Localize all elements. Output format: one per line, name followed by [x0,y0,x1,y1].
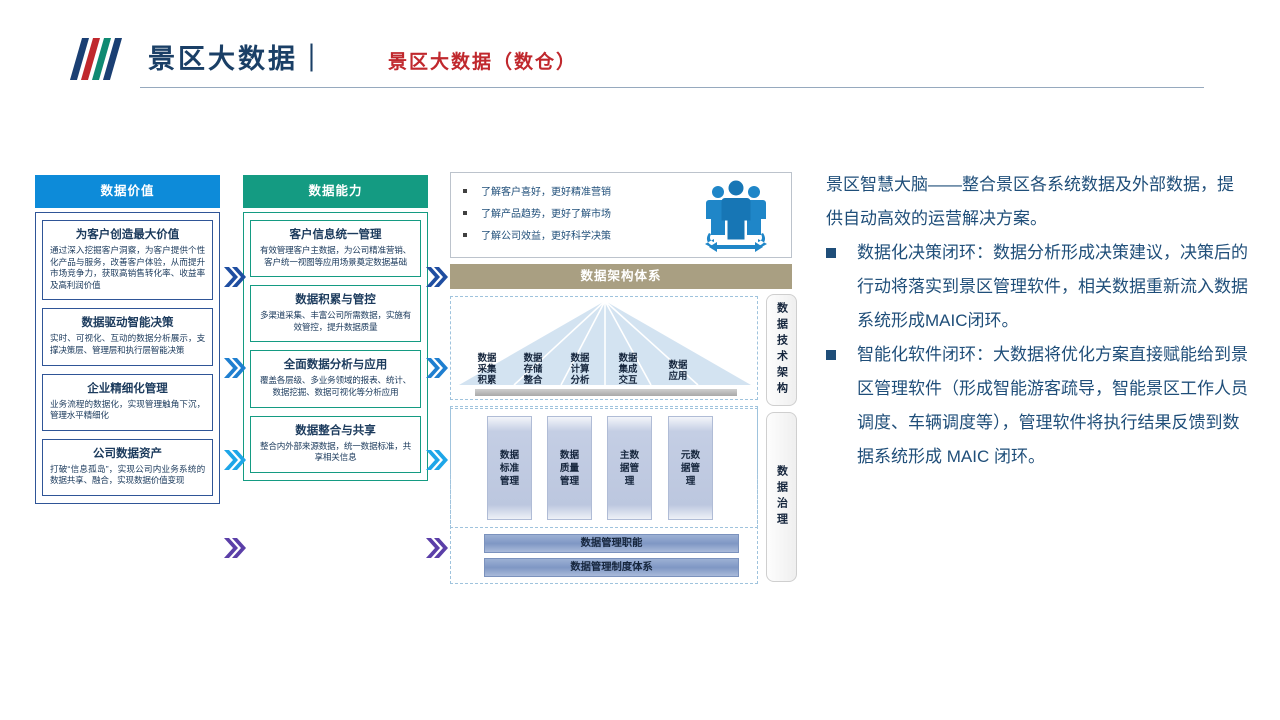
card-item[interactable]: 数据积累与管控 多渠道采集、丰富公司所需数据，实施有效管控，提升数据质量 [250,285,421,342]
bullet-paragraph-text: 数据化决策闭环：数据分析形成决策建议，决策后的行动将落实到景区管理软件，相关数据… [857,243,1248,330]
slide-canvas: 景区大数据｜ 景区大数据（数仓） 数据价值 为客户创造最大价值 通过深入挖掘客户… [0,0,1280,720]
pillar-item[interactable]: 数据 标准 管理 [487,416,532,520]
chevron-arrow-icon [426,450,448,470]
bar-data-management-system: 数据管理制度体系 [484,558,739,577]
list-item-label: 了解客户喜好，更好精准营销 [481,183,611,198]
pyramid-layer-label: 数据应用 [663,359,693,381]
architecture-title-bar: 数据架构体系 [450,264,792,289]
bullet-paragraph-text: 智能化软件闭环：大数据将优化方案直接赋能给到景区管理软件（形成智能游客疏导，智能… [857,345,1248,466]
square-bullet-icon [826,248,836,258]
pyramid-layer-label: 数据存储整合 [518,352,548,385]
chevron-arrow-icon [426,358,448,378]
list-item: 了解客户喜好，更好精准营销 [463,183,678,198]
card-item[interactable]: 全面数据分析与应用 覆盖各层级、多业务领域的报表、统计、数据挖掘、数据可视化等分… [250,350,421,407]
page-subtitle: 景区大数据（数仓） [388,45,577,80]
card-title: 客户信息统一管理 [258,227,413,243]
square-bullet-icon [826,350,836,360]
architecture-diagram: 了解客户喜好，更好精准营销 了解产品趋势，更好了解市场 了解公司效益，更好科学决… [450,172,808,602]
bar-data-management-function: 数据管理职能 [484,534,739,553]
column-body-data-value: 为客户创造最大价值 通过深入挖掘客户洞察，为客户提供个性化产品与服务，改善客户体… [35,212,220,504]
card-title: 全面数据分析与应用 [258,357,413,373]
logo-stripes [76,38,134,80]
card-desc: 多渠道采集、丰富公司所需数据，实施有效管控，提升数据质量 [258,310,413,333]
chevron-arrow-icon [426,538,448,558]
card-desc: 有效管理客户主数据，为公司精准营销、客户统一视图等应用场景奠定数据基础 [258,245,413,268]
card-desc: 通过深入挖掘客户洞察，为客户提供个性化产品与服务，改善客户体验，从而提升市场竞争… [50,245,205,291]
pillar-item[interactable]: 数据 质量 管理 [547,416,592,520]
card-item[interactable]: 为客户创造最大价值 通过深入挖掘客户洞察，为客户提供个性化产品与服务，改善客户体… [42,220,213,300]
column-body-data-capability: 客户信息统一管理 有效管理客户主数据，为公司精准营销、客户统一视图等应用场景奠定… [243,212,428,481]
bullet-paragraph: 数据化决策闭环：数据分析形成决策建议，决策后的行动将落实到景区管理软件，相关数据… [826,236,1250,338]
people-group-icon [699,179,773,253]
right-description-panel: 景区智慧大脑——整合景区各系统数据及外部数据，提供自动高效的运营解决方案。 数据… [826,168,1250,474]
bullet-paragraph: 智能化软件闭环：大数据将优化方案直接赋能给到景区管理软件（形成智能游客疏导，智能… [826,338,1250,474]
pyramid-layer-label: 数据集成交互 [613,352,643,385]
card-desc: 覆盖各层级、多业务领域的报表、统计、数据挖掘、数据可视化等分析应用 [258,375,413,398]
page-title: 景区大数据｜ [148,38,328,80]
benefits-list: 了解客户喜好，更好精准营销 了解产品趋势，更好了解市场 了解公司效益，更好科学决… [463,183,678,249]
vertical-tab-tech-architecture[interactable]: 数据技术架构 [766,294,797,406]
pillar-item[interactable]: 元数 据管 理 [668,416,713,520]
card-desc: 实时、可视化、互动的数据分析展示，支撑决策层、管理层和执行层智能决策 [50,333,205,356]
column-header-data-capability: 数据能力 [243,175,428,208]
chevron-arrow-icon [224,450,246,470]
column-data-capability: 数据能力 客户信息统一管理 有效管理客户主数据，为公司精准营销、客户统一视图等应… [243,175,428,481]
card-item[interactable]: 企业精细化管理 业务流程的数据化，实现管理触角下沉，管理水平精细化 [42,374,213,431]
header-divider [140,87,1204,88]
card-desc: 打破“信息孤岛”，实现公司内业务系统的数据共享、融合，实现数据价值变现 [50,464,205,487]
card-title: 数据驱动智能决策 [50,315,205,331]
card-item[interactable]: 数据整合与共享 整合内外部来源数据，统一数据标准，共享相关信息 [250,416,421,473]
pyramid-layer-label: 数据计算分析 [565,352,595,385]
column-data-value: 数据价值 为客户创造最大价值 通过深入挖掘客户洞察，为客户提供个性化产品与服务，… [35,175,220,504]
chevron-arrow-icon [224,538,246,558]
vertical-tab-data-governance[interactable]: 数据治理 [766,412,797,582]
bullet-square-icon [463,233,467,237]
card-title: 为客户创造最大价值 [50,227,205,243]
chevron-arrow-icon [224,358,246,378]
chevron-arrow-icon [224,267,246,287]
column-header-data-value: 数据价值 [35,175,220,208]
card-desc: 整合内外部来源数据，统一数据标准，共享相关信息 [258,441,413,464]
card-title: 公司数据资产 [50,446,205,462]
pyramid-layer-label: 数据采集积累 [472,352,502,385]
card-title: 数据整合与共享 [258,423,413,439]
list-item-label: 了解公司效益，更好科学决策 [481,227,611,242]
card-desc: 业务流程的数据化，实现管理触角下沉，管理水平精细化 [50,399,205,422]
list-item-label: 了解产品趋势，更好了解市场 [481,205,611,220]
pillar-item[interactable]: 主数 据管 理 [607,416,652,520]
benefits-box: 了解客户喜好，更好精准营销 了解产品趋势，更好了解市场 了解公司效益，更好科学决… [450,172,792,258]
card-title: 数据积累与管控 [258,292,413,308]
pyramid-base-bar [475,389,737,396]
list-item: 了解公司效益，更好科学决策 [463,227,678,242]
bullet-square-icon [463,211,467,215]
lead-paragraph: 景区智慧大脑——整合景区各系统数据及外部数据，提供自动高效的运营解决方案。 [826,168,1250,236]
tech-architecture-zone: 数据采集积累 数据存储整合 数据计算分析 数据集成交互 数据应用 [450,296,758,400]
list-item: 了解产品趋势，更好了解市场 [463,205,678,220]
card-item[interactable]: 数据驱动智能决策 实时、可视化、互动的数据分析展示，支撑决策层、管理层和执行层智… [42,308,213,365]
card-item[interactable]: 公司数据资产 打破“信息孤岛”，实现公司内业务系统的数据共享、融合，实现数据价值… [42,439,213,496]
card-item[interactable]: 客户信息统一管理 有效管理客户主数据，为公司精准营销、客户统一视图等应用场景奠定… [250,220,421,277]
chevron-arrow-icon [426,267,448,287]
card-title: 企业精细化管理 [50,381,205,397]
bullet-square-icon [463,189,467,193]
